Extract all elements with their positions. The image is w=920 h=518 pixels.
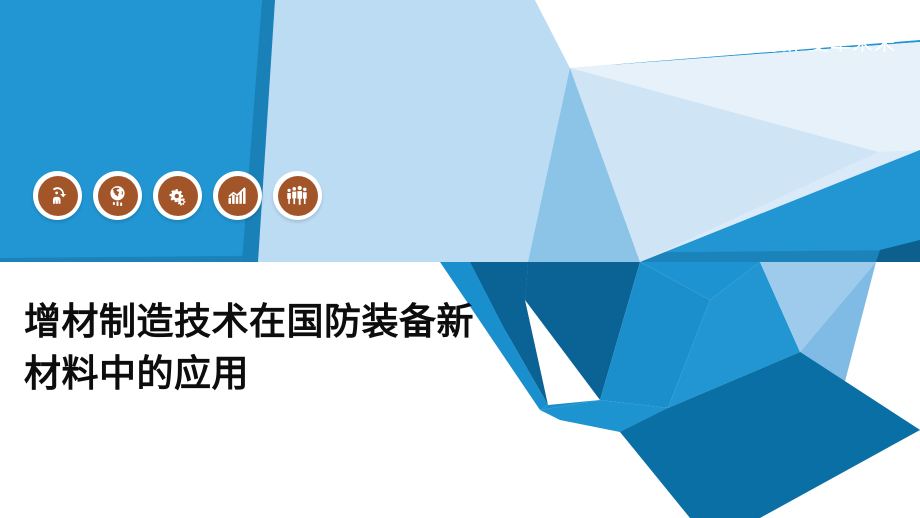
background-polygon-artwork — [0, 0, 920, 518]
icon-badge-team[interactable] — [273, 171, 322, 220]
page-title-line-1: 增材制造技术在国防装备新 — [24, 296, 544, 348]
bar-chart-icon — [226, 184, 249, 207]
icon-disc — [218, 176, 258, 216]
icon-badge-gears[interactable] — [153, 171, 202, 220]
refresh-arrow-icon — [46, 184, 69, 207]
icon-row — [33, 171, 322, 220]
page-title: 增材制造技术在国防装备新 材料中的应用 — [24, 296, 544, 400]
globe-icon — [106, 184, 129, 207]
team-people-icon — [286, 184, 309, 207]
tagline: 数智创新 变革未来 — [713, 27, 896, 57]
icon-disc — [158, 176, 198, 216]
icon-badge-globe[interactable] — [93, 171, 142, 220]
page-title-line-2: 材料中的应用 — [24, 348, 544, 400]
gears-icon — [166, 184, 189, 207]
icon-badge-bar-chart[interactable] — [213, 171, 262, 220]
icon-badge-refresh[interactable] — [33, 171, 82, 220]
icon-disc — [98, 176, 138, 216]
icon-disc — [278, 176, 318, 216]
title-slide: 数智创新 变革未来 — [0, 0, 920, 518]
icon-disc — [38, 176, 78, 216]
